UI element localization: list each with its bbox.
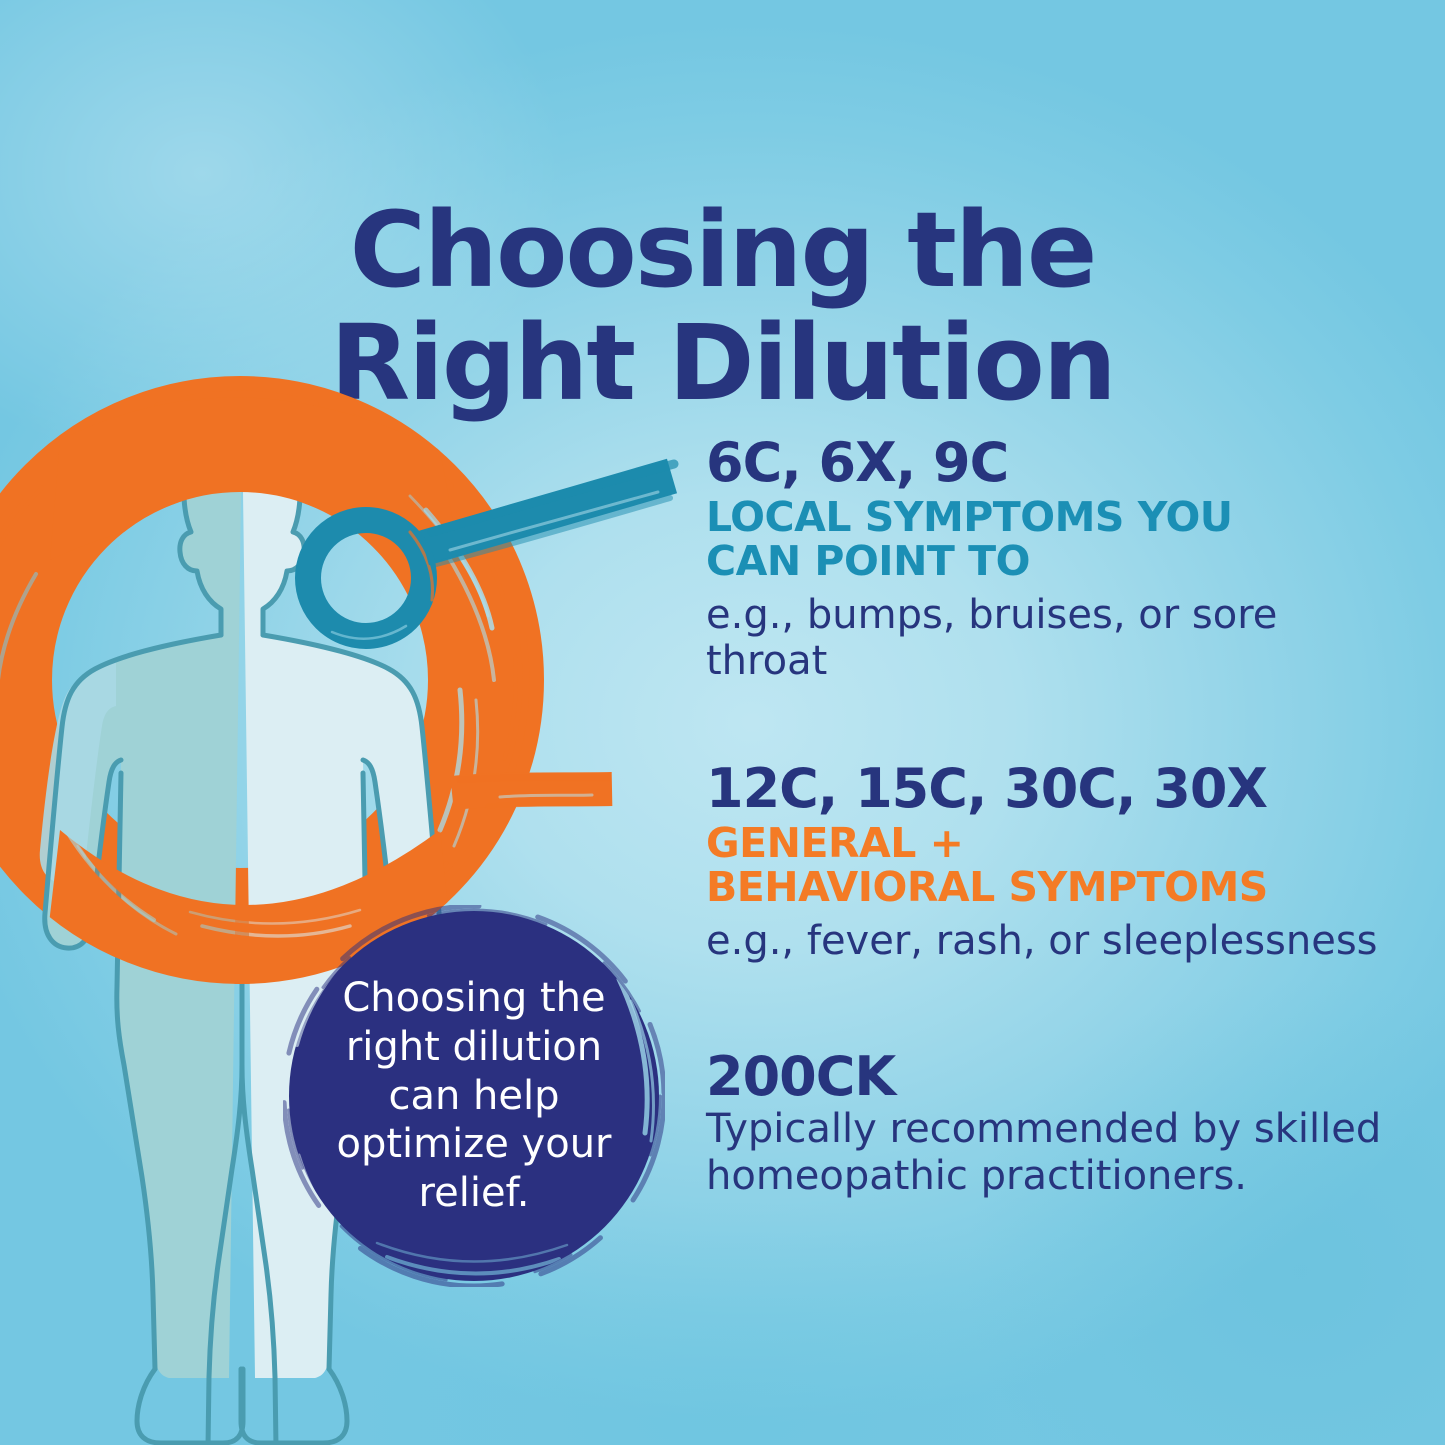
dilution-block-2: 12C, 15C, 30C, 30X GENERAL + BEHAVIORAL … xyxy=(706,762,1406,964)
orange-pointer-stroke xyxy=(452,778,612,807)
dilution-1-example: e.g., bumps, bruises, or sore throat xyxy=(706,592,1406,685)
dilution-2-example: e.g., fever, rash, or sleeplessness xyxy=(706,918,1406,964)
dilution-1-subtitle-line-1: LOCAL SYMPTOMS YOU xyxy=(706,496,1406,540)
dilution-2-subtitle-line-2: BEHAVIORAL SYMPTOMS xyxy=(706,866,1406,910)
badge-text: Choosing the right dilution can help opt… xyxy=(283,905,665,1287)
dilution-1-subtitle-line-2: CAN POINT TO xyxy=(706,540,1406,584)
dilution-2-subtitle-line-1: GENERAL + xyxy=(706,822,1406,866)
page-title-line-1: Choosing the xyxy=(0,194,1445,307)
dilution-3-description: Typically recommended by skilled homeopa… xyxy=(706,1106,1406,1200)
magnifier-lens-ring xyxy=(270,480,470,680)
dilution-2-subtitle: GENERAL + BEHAVIORAL SYMPTOMS xyxy=(706,822,1406,910)
dilution-block-3: 200CK Typically recommended by skilled h… xyxy=(706,1050,1406,1200)
dilution-3-description-line-1: Typically recommended by skilled xyxy=(706,1106,1406,1153)
dilution-3-description-line-2: homeopathic practitioners. xyxy=(706,1153,1406,1200)
highlight-badge: Choosing the right dilution can help opt… xyxy=(283,905,665,1287)
dilution-1-subtitle: LOCAL SYMPTOMS YOU CAN POINT TO xyxy=(706,496,1406,584)
dilution-block-1: 6C, 6X, 9C LOCAL SYMPTOMS YOU CAN POINT … xyxy=(706,436,1406,685)
dilution-1-title: 6C, 6X, 9C xyxy=(706,436,1406,490)
dilution-3-title: 200CK xyxy=(706,1050,1406,1104)
infographic-poster: Choosing the Right Dilution xyxy=(0,0,1445,1445)
dilution-2-title: 12C, 15C, 30C, 30X xyxy=(706,762,1406,816)
